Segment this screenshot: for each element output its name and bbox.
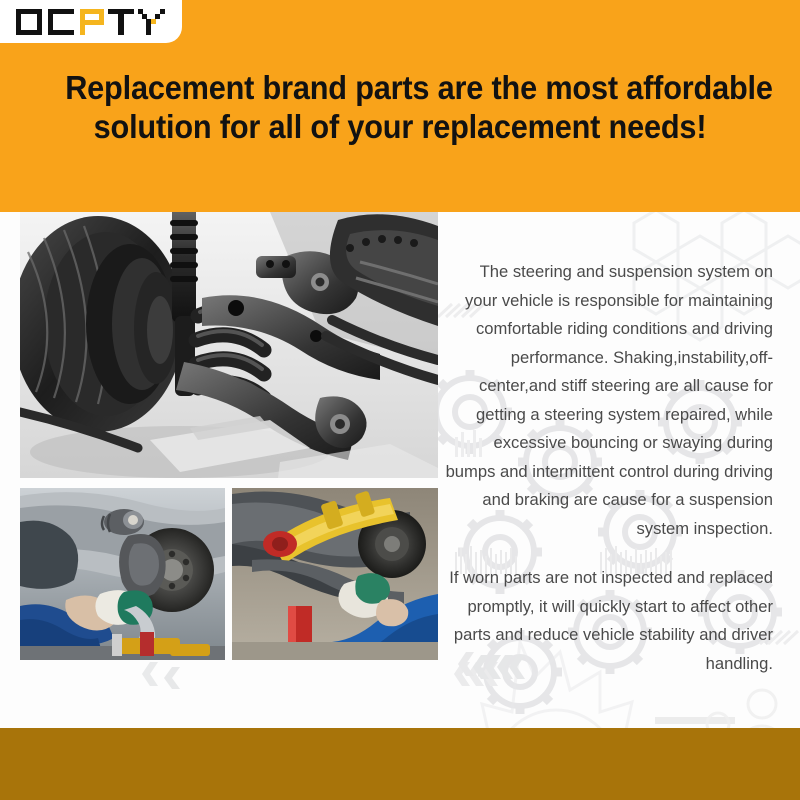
suspension-photo-icon: [20, 212, 438, 478]
footer-bar: [0, 728, 800, 800]
body-paragraph-1: The steering and suspension system on yo…: [443, 258, 773, 543]
headline: Replacement brand parts are the most aff…: [65, 68, 735, 146]
marketing-poster: Replacement brand parts are the most aff…: [0, 0, 800, 800]
brand-logo: [0, 0, 182, 43]
headline-line-2: solution for all of your replacement nee…: [65, 107, 735, 146]
photo-brake-service: [20, 488, 225, 660]
body-copy: The steering and suspension system on yo…: [443, 258, 773, 678]
photo-suspension-assembly: [20, 212, 438, 478]
brake-service-photo-icon: [20, 488, 225, 660]
photo-underlift-service: [232, 488, 438, 660]
ocpty-logo-icon: [16, 9, 166, 35]
headline-line-1: Replacement brand parts are the most aff…: [65, 68, 735, 107]
underlift-photo-icon: [232, 488, 438, 660]
body-paragraph-2: If worn parts are not inspected and repl…: [443, 564, 773, 678]
